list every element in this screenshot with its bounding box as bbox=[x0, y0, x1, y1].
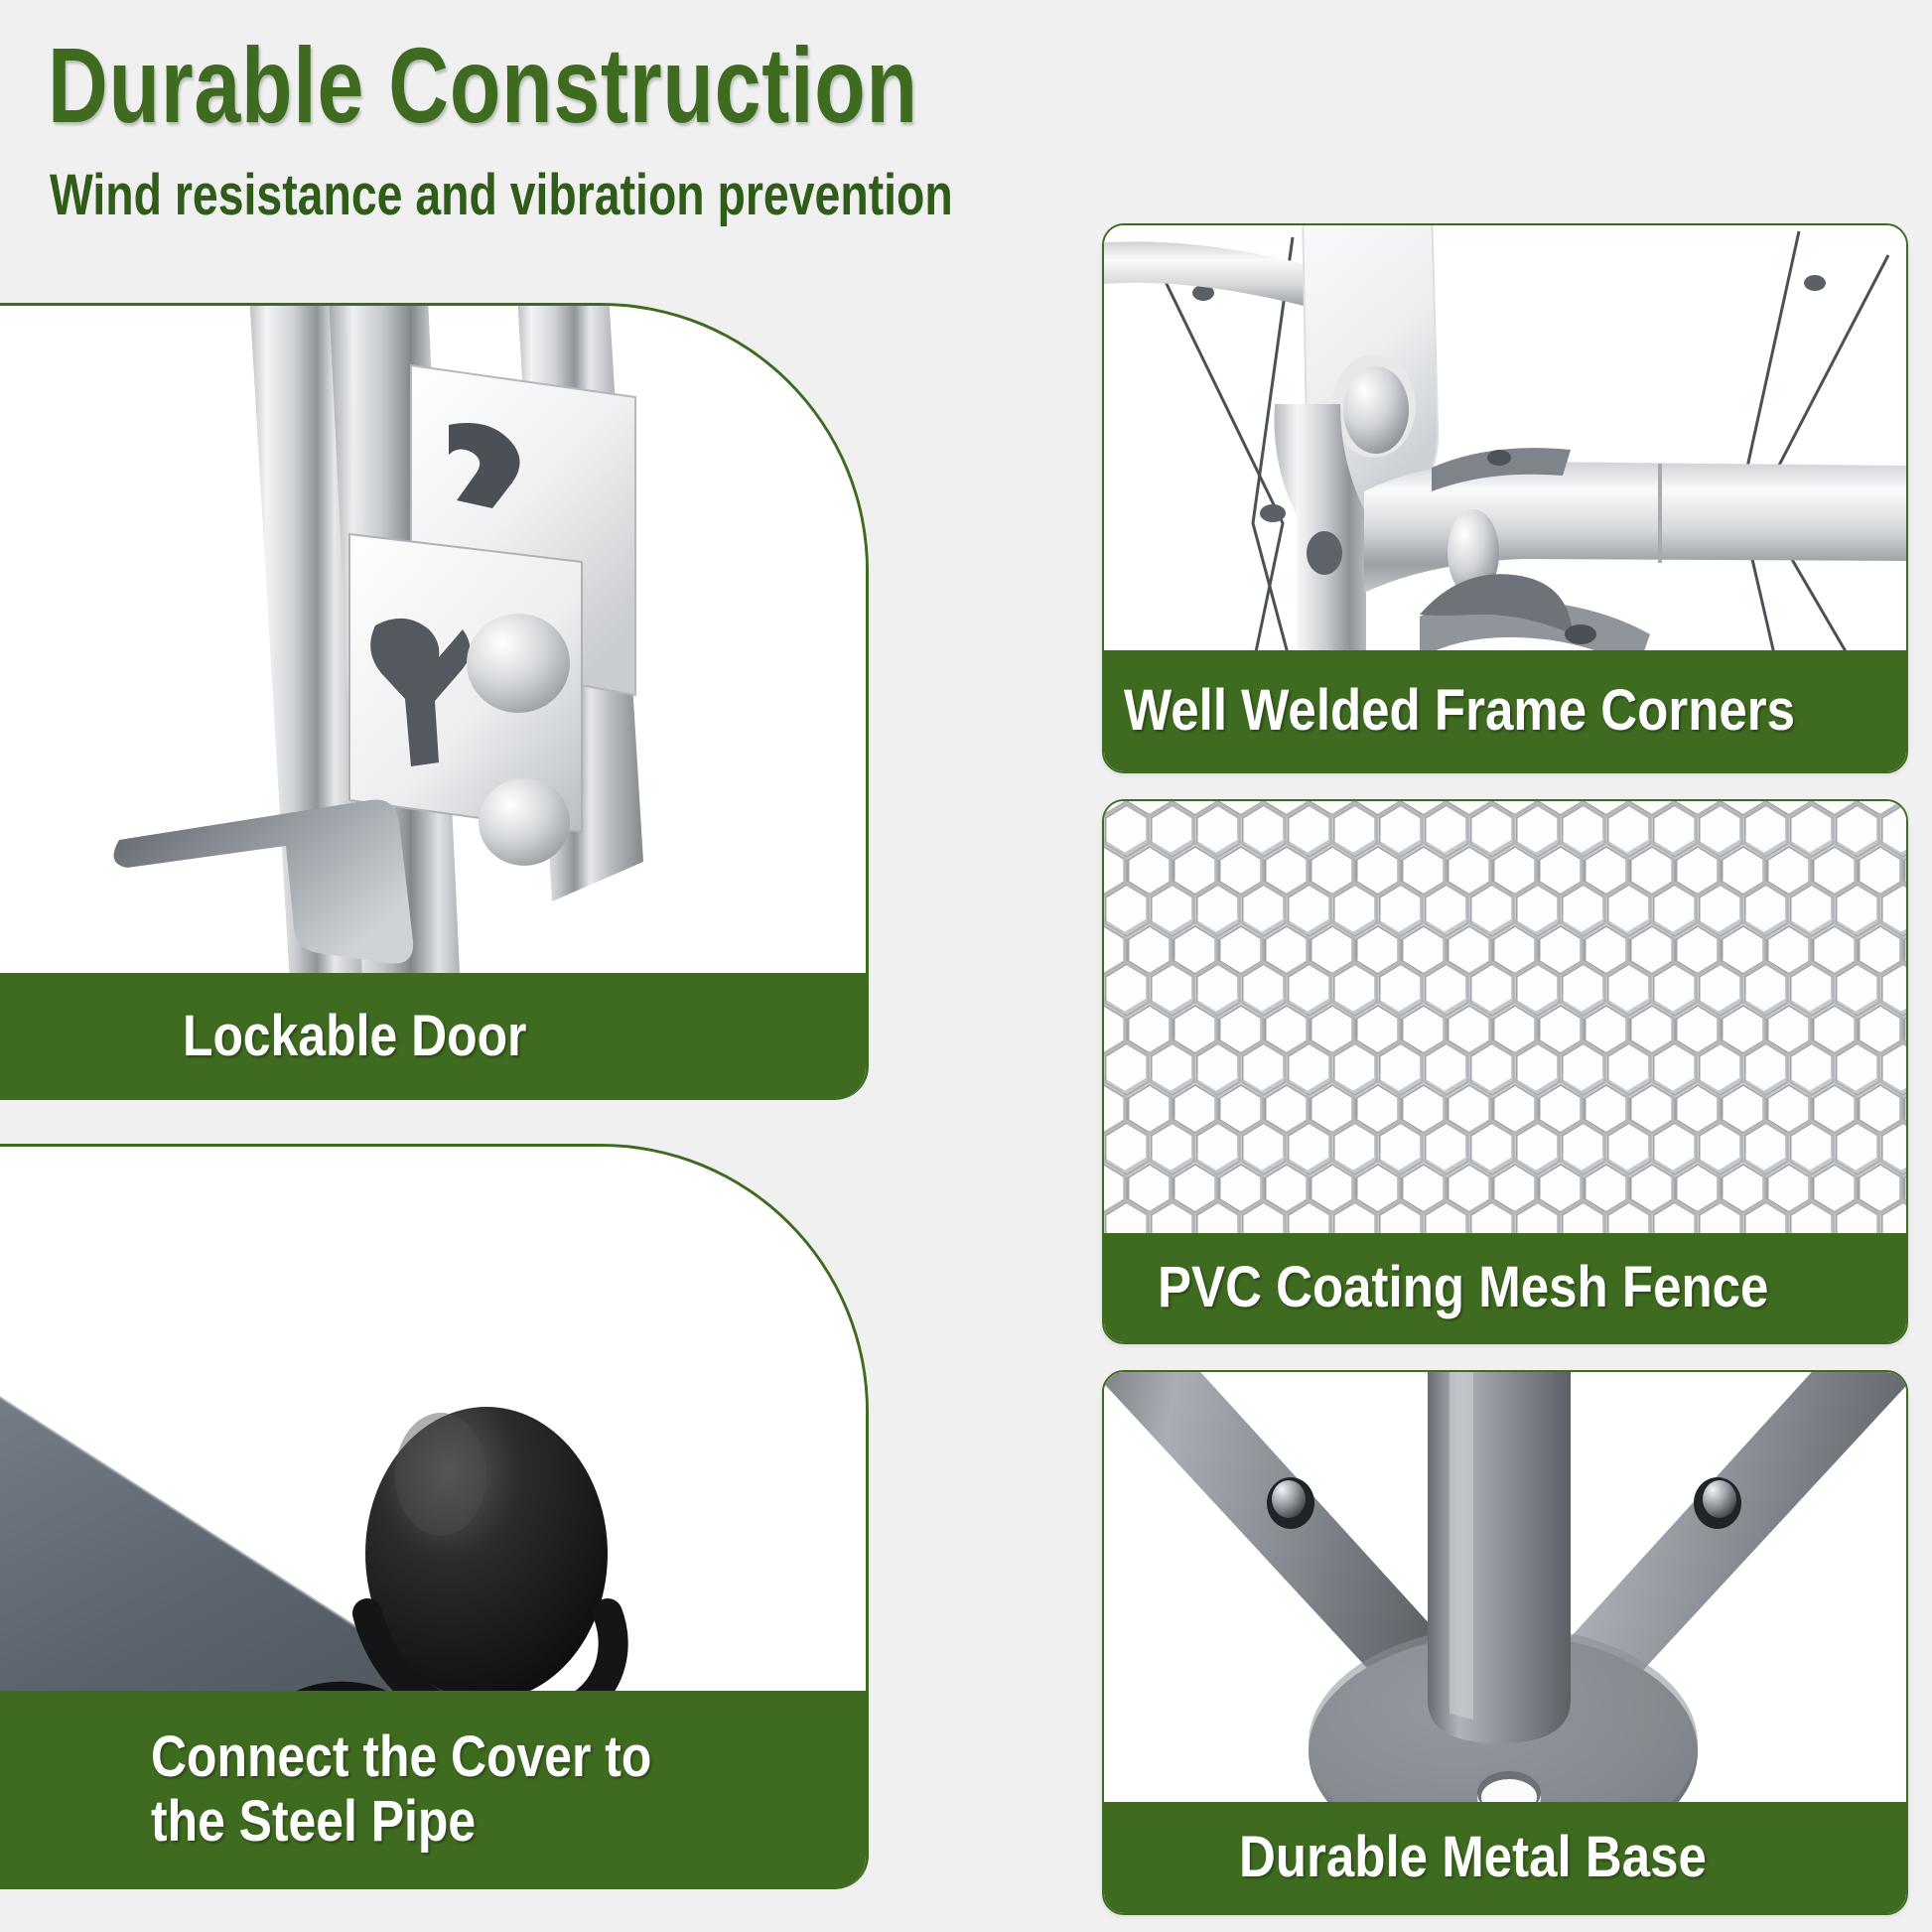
caption-durable-metal-base: Durable Metal Base bbox=[1104, 1802, 1906, 1913]
caption-well-welded-frame-corners: Well Welded Frame Corners bbox=[1104, 650, 1906, 771]
page-title: Durable Construction bbox=[48, 32, 918, 139]
caption-connect-cover-to-steel-pipe: Connect the Cover to the Steel Pipe bbox=[0, 1691, 866, 1889]
panel-connect-cover-to-steel-pipe: Connect the Cover to the Steel Pipe bbox=[0, 1144, 869, 1889]
panel-pvc-coating-mesh-fence: PVC Coating Mesh Fence bbox=[1102, 799, 1908, 1344]
page-subtitle: Wind resistance and vibration prevention bbox=[50, 167, 953, 224]
caption-lockable-door: Lockable Door bbox=[0, 973, 866, 1100]
panel-lockable-door: Lockable Door bbox=[0, 303, 869, 1100]
panel-durable-metal-base: Durable Metal Base bbox=[1102, 1370, 1908, 1915]
panel-well-welded-frame-corners: Well Welded Frame Corners bbox=[1102, 223, 1908, 773]
infographic-canvas: Durable Construction Wind resistance and… bbox=[0, 0, 1932, 1932]
caption-pvc-coating-mesh-fence: PVC Coating Mesh Fence bbox=[1104, 1233, 1906, 1342]
